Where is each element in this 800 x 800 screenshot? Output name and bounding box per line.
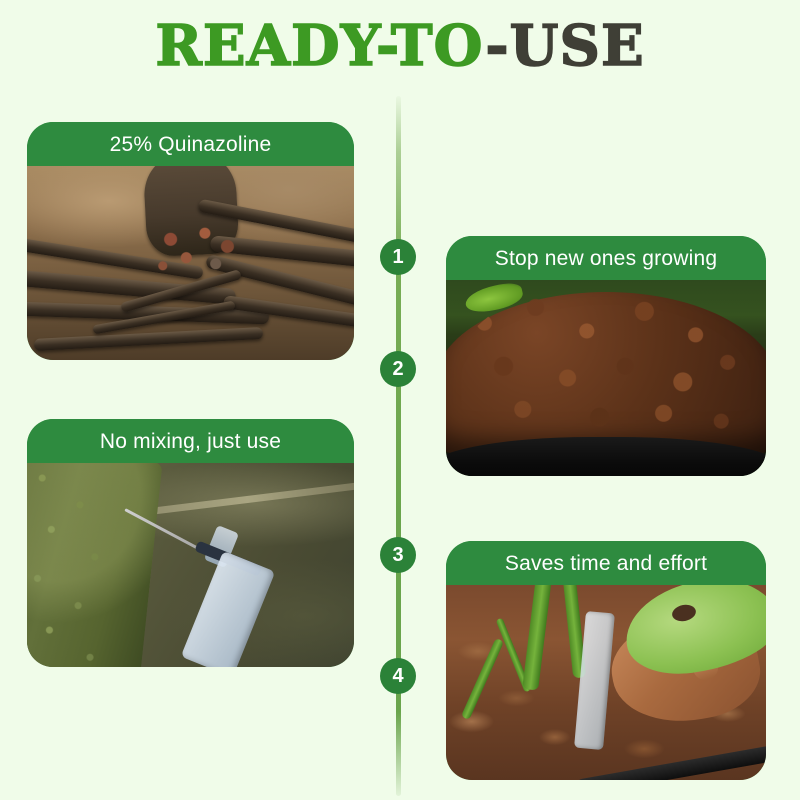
card-3-label: No mixing, just use [100,431,281,452]
timeline-step-1[interactable]: 1 [380,239,416,275]
title-part-green: READY-TO [155,13,485,79]
card-4-photo-hand-syringe [446,585,766,780]
feature-card-4[interactable]: Saves time and effort [446,541,766,780]
infographic-poster: READY-TO-USE 1 2 3 4 25% Quinazoline No … [0,0,800,800]
feature-card-3[interactable]: No mixing, just use [27,419,354,667]
timeline-step-3[interactable]: 3 [380,537,416,573]
card-2-header: Stop new ones growing [446,236,766,280]
card-3-photo-tree-injection [27,463,354,667]
timeline-step-2[interactable]: 2 [380,351,416,387]
card-3-header: No mixing, just use [27,419,354,463]
card-2-photo-soil-tray [446,280,766,476]
title-part-dark: USE [510,13,645,79]
card-2-label: Stop new ones growing [495,248,718,269]
card-4-label: Saves time and effort [505,553,707,574]
page-title: READY-TO-USE [0,18,800,74]
card-1-photo-tree-roots [27,166,354,360]
card-1-label: 25% Quinazoline [110,134,272,155]
timeline-step-4[interactable]: 4 [380,658,416,694]
card-4-header: Saves time and effort [446,541,766,585]
feature-card-1[interactable]: 25% Quinazoline [27,122,354,360]
feature-card-2[interactable]: Stop new ones growing [446,236,766,476]
title-part-dash: - [485,13,509,79]
card-1-header: 25% Quinazoline [27,122,354,166]
